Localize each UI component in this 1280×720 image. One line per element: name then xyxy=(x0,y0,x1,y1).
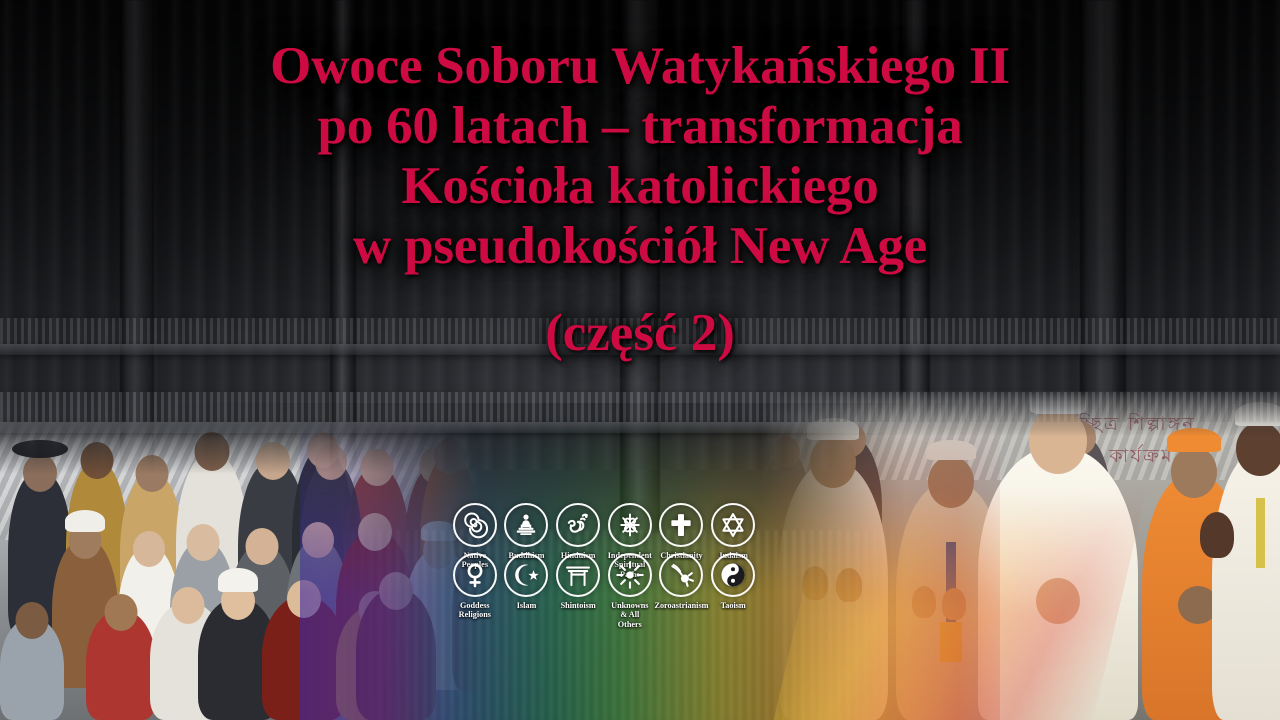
yin-yang-icon xyxy=(711,553,755,597)
interfaith-assembly-photo xyxy=(0,420,480,720)
symbol-hinduism: Hinduism xyxy=(552,503,604,547)
torii-gate-icon xyxy=(556,553,600,597)
symbol-independent-spiritual-paths: Independent Spiritual Paths xyxy=(604,503,656,547)
title-card: চলচ্ছিত্র শিল্পাঙ্গন ত্রি কার্যক্রম xyxy=(0,0,1280,720)
symbol-label: Shintoism xyxy=(549,601,607,610)
starflower-icon xyxy=(608,503,652,547)
interfaith-symbol-grid: Native Peoples Buddhism xyxy=(449,503,759,597)
symbol-unknowns-and-all-others: Unknowns & All Others xyxy=(604,553,656,597)
symbol-taoism: Taoism xyxy=(707,553,759,597)
title-line-3: Kościoła katolickiego xyxy=(0,156,1280,216)
page-title: Owoce Soboru Watykańskiego II po 60 lata… xyxy=(0,36,1280,362)
faravahar-icon xyxy=(659,553,703,597)
sunburst-icon xyxy=(608,553,652,597)
symbol-christianity: Christianity xyxy=(656,503,708,547)
star-of-david-icon xyxy=(711,503,755,547)
symbol-zoroastrianism: Zoroastrianism xyxy=(656,553,708,597)
symbol-buddhism: Buddhism xyxy=(501,503,553,547)
symbol-judaism: Judaism xyxy=(707,503,759,547)
symbol-native-peoples: Native Peoples xyxy=(449,503,501,547)
symbol-goddess-religions: Goddess Religions xyxy=(449,553,501,597)
symbol-label: Goddess Religions xyxy=(446,601,504,620)
spiral-icon xyxy=(453,503,497,547)
om-icon xyxy=(556,503,600,547)
title-line-2: po 60 latach – transformacja xyxy=(0,96,1280,156)
venus-icon xyxy=(453,553,497,597)
title-line-4: w pseudokościół New Age xyxy=(0,216,1280,276)
symbol-islam: Islam xyxy=(501,553,553,597)
pope-interreligious-prayer-photo: চলচ্ছিত্র শিল্পাঙ্গন ত্রি কার্যক্রম xyxy=(760,390,1280,720)
buddha-icon xyxy=(504,503,548,547)
symbol-label: Taoism xyxy=(704,601,762,610)
subtitle-part-number: (część 2) xyxy=(0,304,1280,362)
title-line-1: Owoce Soboru Watykańskiego II xyxy=(0,36,1280,96)
cross-icon xyxy=(659,503,703,547)
symbol-shintoism: Shintoism xyxy=(552,553,604,597)
symbol-label: Islam xyxy=(497,601,555,610)
crescent-star-icon xyxy=(504,553,548,597)
